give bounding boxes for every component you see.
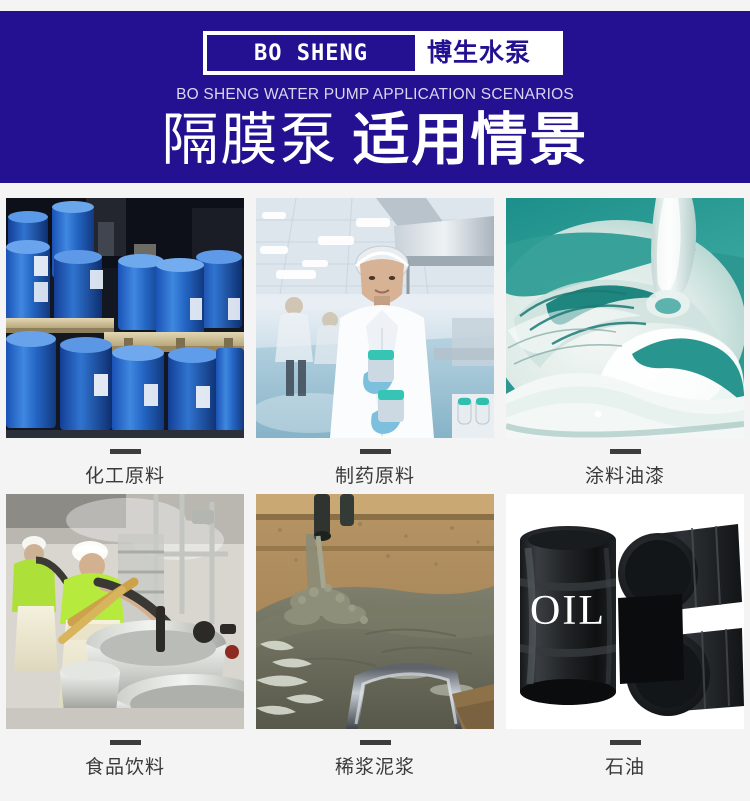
scenario-image-pharma-lab bbox=[256, 198, 494, 438]
scenario-card-food-beverage[interactable]: 食品饮料 bbox=[0, 488, 250, 779]
scenario-image-oil-barrels: OIL bbox=[506, 494, 744, 729]
scenario-label: 化工原料 bbox=[85, 461, 165, 488]
scenario-label: 食品饮料 bbox=[85, 752, 165, 779]
banner-subtitle: BO SHENG WATER PUMP APPLICATION SCENARIO… bbox=[0, 86, 750, 104]
oil-barrel-label: OIL bbox=[530, 588, 606, 634]
logo-chinese-text: 博生水泵 bbox=[415, 35, 531, 71]
banner-title-part1: 隔膜泵 bbox=[162, 108, 339, 172]
scenario-card-petroleum[interactable]: OIL 石油 bbox=[500, 488, 750, 779]
scenario-card-coating-paint[interactable]: 涂料油漆 bbox=[500, 190, 750, 488]
scenario-image-slurry-mud bbox=[256, 494, 494, 729]
scenario-caption: 石油 bbox=[506, 729, 744, 779]
scenario-row-1: 化工原料 bbox=[0, 190, 750, 488]
scenario-grid: 化工原料 bbox=[0, 190, 750, 779]
scenario-label: 石油 bbox=[605, 752, 645, 779]
application-scenarios-page: BO SHENG 博生水泵 BO SHENG WATER PUMP APPLIC… bbox=[0, 0, 750, 801]
caption-dash bbox=[110, 449, 141, 454]
scenario-row-2: 食品饮料 bbox=[0, 488, 750, 779]
scenario-image-paint-swirl bbox=[506, 198, 744, 438]
caption-dash bbox=[610, 449, 641, 454]
scenario-card-chemical-raw-material[interactable]: 化工原料 bbox=[0, 190, 250, 488]
scenario-image-food-factory bbox=[6, 494, 244, 729]
scenario-caption: 化工原料 bbox=[6, 438, 244, 488]
caption-dash bbox=[360, 740, 391, 745]
scenario-card-slurry-mud[interactable]: 稀浆泥浆 bbox=[250, 488, 500, 779]
caption-dash bbox=[360, 449, 391, 454]
scenario-label: 涂料油漆 bbox=[585, 461, 665, 488]
scenario-caption: 涂料油漆 bbox=[506, 438, 744, 488]
scenario-caption: 稀浆泥浆 bbox=[256, 729, 494, 779]
brand-logo: BO SHENG 博生水泵 bbox=[203, 31, 563, 75]
logo-english-text: BO SHENG bbox=[207, 35, 415, 71]
scenario-image-chemical-drums bbox=[6, 198, 244, 438]
banner-title-part2: 适用情景 bbox=[353, 108, 589, 172]
caption-dash bbox=[610, 740, 641, 745]
scenario-caption: 制药原料 bbox=[256, 438, 494, 488]
scenario-card-pharmaceutical-raw-material[interactable]: 制药原料 bbox=[250, 190, 500, 488]
scenario-label: 制药原料 bbox=[335, 461, 415, 488]
caption-dash bbox=[110, 740, 141, 745]
banner-title: 隔膜泵适用情景 bbox=[0, 107, 750, 183]
scenario-label: 稀浆泥浆 bbox=[335, 752, 415, 779]
header-banner: BO SHENG 博生水泵 BO SHENG WATER PUMP APPLIC… bbox=[0, 11, 750, 183]
scenario-caption: 食品饮料 bbox=[6, 729, 244, 779]
